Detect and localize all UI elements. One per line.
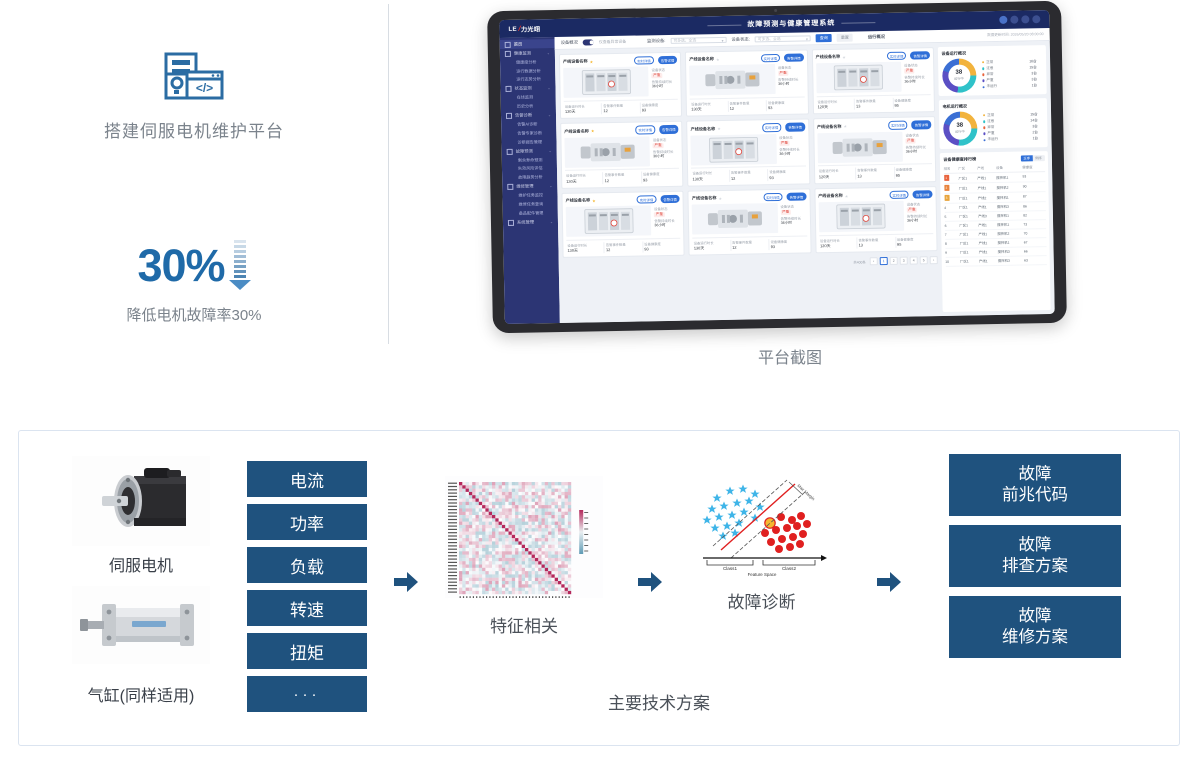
status-badge: 严重 xyxy=(652,73,662,78)
metric-alarm-count: 告警事件数量12 xyxy=(730,169,769,181)
alarm-duration-value: 36小时 xyxy=(779,151,805,156)
chevron-down-icon: ⌄ xyxy=(550,220,553,224)
pagination-prev[interactable]: ‹ xyxy=(870,258,878,266)
realtime-detail-button[interactable]: 实时详情 xyxy=(634,56,654,65)
pagination-page-5[interactable]: 5 xyxy=(920,257,928,265)
alarm-detail-button[interactable]: 告警详情 xyxy=(658,56,678,65)
legend-label: 正常 xyxy=(986,60,993,65)
metric-health: 设备健康度93 xyxy=(643,240,681,252)
rank-cell: 67 xyxy=(1024,237,1046,246)
device-thumbnail xyxy=(564,136,650,168)
tablet-screen: LE / 力光翊 故障预测与健康管理系统 xyxy=(499,10,1054,324)
sidebar-label: 系统管理 xyxy=(517,219,534,225)
signal-column: 电流功率负载转速扭矩··· xyxy=(247,461,367,719)
status-label: 设备状态 xyxy=(779,134,805,139)
legend-item: 正常 16台 xyxy=(982,59,1043,65)
svg-text:Class2: Class2 xyxy=(781,566,795,571)
status-badge: 严重 xyxy=(653,143,663,148)
legend-count: 16台 xyxy=(1029,59,1042,64)
device-card-grid: 产线设备名称 ★ 实时详情 告警详情 设备状态 严重 告警持续时长 36小时 设… xyxy=(555,43,943,323)
stat-value: 30% xyxy=(137,243,224,288)
status-label: 设备状态 xyxy=(654,206,680,211)
flow-diagram: 伺服电机 xyxy=(19,431,1179,745)
rank-cell: 厂区1 xyxy=(959,203,978,212)
rank-cell: 产线1 xyxy=(979,247,998,256)
rank-cell: 厂区1 xyxy=(959,183,978,193)
app-logo: LE / 力光翊 xyxy=(499,23,583,34)
sidebar-label: 告警专家诊断 xyxy=(517,130,542,135)
alarm-duration-value: 36小时 xyxy=(781,221,807,226)
signal-box-5: ··· xyxy=(247,676,367,712)
device-card[interactable]: 产线设备名称 ★ 实时详情 告警详情 设备状态 严重 告警持续时长 36小时 设… xyxy=(812,47,936,115)
status-label: 设备状态 xyxy=(778,65,804,70)
app-body: 首页健康监测⌄健康度分析运行数据分析运行态势分析状态监测⌄在线监测历史分析告警诊… xyxy=(500,28,1055,324)
donut-center-label: 运行中 xyxy=(955,129,965,134)
chevron-down-icon: ⌄ xyxy=(549,149,552,153)
pagination-next[interactable]: › xyxy=(930,257,938,265)
rank-cell: 搅拌机2 xyxy=(996,182,1022,192)
signal-box-1: 功率 xyxy=(247,504,367,540)
rank-cell: 产线3 xyxy=(978,211,997,220)
svm-classification-plot: Max MarginClass1Class2Feature Space xyxy=(697,476,827,574)
status-badge: 严重 xyxy=(778,71,788,76)
legend-color-dot xyxy=(983,133,986,136)
metric-runtime: 设备运行时长130天 xyxy=(565,172,604,184)
ranking-title: 设备健康度排行榜 xyxy=(943,156,976,163)
donut-chart: 38 运行中 xyxy=(943,111,978,146)
device-card-name: 产线设备名称 xyxy=(817,123,842,129)
metric-health: 设备健康度95 xyxy=(895,166,933,178)
metric-alarm-count: 告警事件数量12 xyxy=(731,239,770,251)
monitor-icon xyxy=(505,86,511,92)
legend-count: 1台 xyxy=(1033,136,1045,141)
health-ranking-panel: 设备健康度排行榜 正序 倒序 排名厂区产线设备健康度1厂区1产线1搅拌机1932… xyxy=(940,151,1051,312)
legend-color-dot xyxy=(982,67,985,70)
chevron-down-icon: ⌄ xyxy=(548,113,551,117)
svg-text:Feature Space: Feature Space xyxy=(747,572,776,577)
realtime-detail-button[interactable]: 实时详情 xyxy=(762,123,782,132)
favorite-star-icon[interactable]: ★ xyxy=(845,193,849,198)
legend-count: 15台 xyxy=(1029,65,1042,70)
alarm-detail-button[interactable]: 告警详情 xyxy=(910,51,930,60)
overview-donut-panel: 电机运行概况 38 运行中 正常 15台 注意 14台 异常 3台 严重 2台 … xyxy=(939,98,1048,149)
device-card[interactable]: 产线设备名称 ★ 实时详情 告警详情 设备状态 严重 告警持续时长 36小时 设… xyxy=(685,49,809,117)
rank-cell: 厂区1 xyxy=(959,193,978,203)
sidebar-label: 健康度分析 xyxy=(516,59,537,64)
sidebar-label: 剩余寿命预测 xyxy=(518,157,543,162)
sidebar-label: 健康监测 xyxy=(514,50,531,56)
source-caption-0: 伺服电机 xyxy=(66,552,216,576)
pagination-total: 共400条 xyxy=(853,259,866,264)
rank-cell: 产线1 xyxy=(978,229,997,238)
legend-label: 严重 xyxy=(987,78,994,83)
server-code-icon: </> xyxy=(163,52,225,105)
technical-solution-panel: 伺服电机 xyxy=(18,430,1180,746)
rank-cell: 90 xyxy=(1023,181,1045,191)
toggle-hint: 仅查看异常设备 xyxy=(599,39,626,45)
app-title-text: 故障预测与健康管理系统 xyxy=(747,18,835,30)
sidebar-label: 运行态势分析 xyxy=(516,77,541,82)
rank-cell: 产线1 xyxy=(978,202,997,211)
flow-arrow-1 xyxy=(393,569,419,595)
sidebar-label: 备品配件管理 xyxy=(519,210,544,215)
metric-health: 设备健康度93 xyxy=(770,238,808,250)
favorite-star-icon[interactable]: ★ xyxy=(843,124,847,129)
metric-runtime: 设备运行时长120天 xyxy=(818,168,857,180)
metric-runtime: 设备运行时长130天 xyxy=(566,242,605,254)
metric-health: 设备健康度95 xyxy=(896,236,934,248)
filter-status-label: 设备状态: xyxy=(731,36,749,42)
device-thumbnail xyxy=(692,203,778,235)
output-line2: 前兆代码 xyxy=(1002,485,1068,506)
bell-icon[interactable] xyxy=(1021,15,1029,23)
legend-item: 未运行 1台 xyxy=(982,83,1043,89)
legend-count: 3台 xyxy=(1031,71,1043,76)
reset-button[interactable]: 重置 xyxy=(837,33,853,42)
metric-health: 设备健康度93 xyxy=(768,169,806,181)
realtime-detail-button[interactable]: 实时详情 xyxy=(763,193,783,202)
header-icon-group xyxy=(999,15,1049,24)
alarm-detail-button[interactable]: 告警详情 xyxy=(913,190,933,199)
favorite-star-icon[interactable]: ★ xyxy=(718,196,722,201)
filter-device-value: 可多选、全选 xyxy=(673,38,696,43)
update-time: 数据更新时间: 2026/05/20 08:00:00 xyxy=(987,32,1044,38)
alarm-duration-value: 36小时 xyxy=(778,82,804,87)
device-card-name: 产线设备名称 xyxy=(691,126,716,132)
app-sidebar: 首页健康监测⌄健康度分析运行数据分析运行态势分析状态监测⌄在线监测历史分析告警诊… xyxy=(500,37,560,324)
filter-status-value: 可多选、全选 xyxy=(758,36,781,41)
home-icon xyxy=(505,41,511,47)
legend-color-dot xyxy=(982,80,985,83)
chevron-down-icon: ⌄ xyxy=(547,86,550,90)
status-badge: 严重 xyxy=(904,69,914,74)
output-line2: 排查方案 xyxy=(1002,556,1068,577)
status-badge: 严重 xyxy=(907,208,917,213)
flow-arrow-3 xyxy=(876,569,902,595)
filter-device-select[interactable]: 可多选、全选 ▾ xyxy=(670,37,726,45)
filter-status-select[interactable]: 可多选、全选 ▾ xyxy=(755,35,811,43)
device-card-name: 产线设备名称 xyxy=(692,195,717,201)
favorite-star-icon[interactable]: ★ xyxy=(716,57,720,62)
rank-cell: 87 xyxy=(1023,191,1045,201)
legend-item: 注意 15台 xyxy=(982,65,1043,71)
device-card[interactable]: 产线设备名称 ★ 实时详情 告警详情 设备状态 严重 告警持续时长 36小时 设… xyxy=(813,117,937,185)
panel-title: 设备运行概况 xyxy=(941,49,1042,57)
legend-color-dot xyxy=(982,61,985,64)
rank-cell: 厂区1 xyxy=(959,230,978,239)
servo-motor-photo xyxy=(72,456,210,546)
sidebar-label: 告警AI诊断 xyxy=(517,121,537,126)
legend-label: 严重 xyxy=(987,131,994,136)
metric-alarm-count: 告警事件数量13 xyxy=(856,167,895,179)
logo-text2: 力光翊 xyxy=(521,24,541,33)
status-label: 设备状态 xyxy=(780,204,806,209)
pagination-page-2[interactable]: 2 xyxy=(890,257,898,265)
favorite-star-icon[interactable]: ★ xyxy=(717,126,721,131)
source-column: 伺服电机 xyxy=(66,456,216,706)
alarm-detail-button[interactable]: 告警详情 xyxy=(659,125,679,134)
tablet-caption: 平台截图 xyxy=(470,344,1110,368)
pagination-page-3[interactable]: 3 xyxy=(900,257,908,265)
output-line1: 故障 xyxy=(1019,464,1052,485)
device-card-name: 产线设备名称 xyxy=(563,59,588,65)
rank-cell: 产线1 xyxy=(977,172,996,182)
page-root: </> 搭建伺服电机维护平台 30% xyxy=(0,0,1198,764)
legend-count: 3台 xyxy=(1032,124,1044,129)
device-thumbnail xyxy=(817,131,903,163)
metric-alarm-count: 告警事件数量13 xyxy=(855,98,894,110)
stat-caption: 降低电机故障率30% xyxy=(0,304,388,325)
sidebar-label: 维修任务查询 xyxy=(519,201,544,206)
metric-runtime: 设备运行时长120天 xyxy=(819,237,858,249)
device-card[interactable]: 产线设备名称 ★ 实时详情 告警详情 设备状态 严重 告警持续时长 36小时 设… xyxy=(560,121,684,189)
device-card[interactable]: 产线设备名称 ★ 实时详情 告警详情 设备状态 严重 告警持续时长 36小时 设… xyxy=(814,186,938,254)
filter-device-label: 监测设备: xyxy=(647,38,665,44)
alarm-detail-button[interactable]: 告警详情 xyxy=(785,123,805,132)
rank-cell: 厂区1 xyxy=(960,257,979,266)
stat-block: 30% 降低电机故障率30% xyxy=(0,238,388,325)
show-abnormal-toggle[interactable] xyxy=(583,40,594,46)
rank-medal-icon: 1 xyxy=(944,175,949,181)
sidebar-label: 失效风险评估 xyxy=(518,166,543,171)
metric-health: 设备健康度93 xyxy=(642,171,680,183)
device-card[interactable]: 产线设备名称 ★ 实时详情 告警详情 设备状态 严重 告警持续时长 36小时 设… xyxy=(686,119,810,187)
output-line1: 故障 xyxy=(1019,606,1052,627)
rank-cell: 10 xyxy=(945,257,960,266)
rank-cell: 产线1 xyxy=(978,220,997,229)
sort-desc-button[interactable]: 倒序 xyxy=(1033,155,1045,162)
rank-cell: 1 xyxy=(944,173,959,183)
rank-medal-icon: 3 xyxy=(944,195,949,201)
rank-cell: 搅拌机1 xyxy=(997,192,1023,202)
correlation-heatmap xyxy=(445,476,603,598)
search-button[interactable]: 查询 xyxy=(816,34,832,43)
table-row[interactable]: 10厂区1产线1搅拌机363 xyxy=(945,255,1046,266)
run-overview-title: 运行概况 xyxy=(868,34,885,40)
device-thumbnail xyxy=(689,64,775,96)
rank-cell: 9 xyxy=(945,248,960,257)
rank-cell: 93 xyxy=(1022,171,1044,181)
device-thumbnail xyxy=(563,67,649,99)
pagination-page-4[interactable]: 4 xyxy=(910,257,918,265)
rank-cell: 63 xyxy=(1024,255,1046,264)
platform-icon-block: </> 搭建伺服电机维护平台 xyxy=(0,52,388,142)
rank-cell: 73 xyxy=(1023,219,1045,228)
device-thumbnail xyxy=(816,62,902,94)
favorite-star-icon[interactable]: ★ xyxy=(592,198,596,203)
metric-alarm-count: 告警事件数量12 xyxy=(729,100,768,112)
panel-title: 电机运行概况 xyxy=(942,102,1043,110)
source-caption-1: 气缸(同样适用) xyxy=(66,682,216,706)
title-rule-right xyxy=(841,22,875,24)
rank-cell: 厂区1 xyxy=(959,212,978,221)
platform-icon-caption: 搭建伺服电机维护平台 xyxy=(0,117,388,142)
legend-label: 未运行 xyxy=(988,137,999,142)
favorite-star-icon[interactable]: ★ xyxy=(591,128,595,133)
device-card[interactable]: 产线设备名称 ★ 实时详情 告警详情 设备状态 严重 告警持续时长 36小时 设… xyxy=(559,52,683,120)
rank-cell: 厂区1 xyxy=(960,248,979,257)
alarm-detail-button[interactable]: 告警详情 xyxy=(784,53,804,62)
rank-cell: 搅拌机1 xyxy=(996,172,1022,182)
predict-icon xyxy=(507,148,513,154)
alarm-duration-value: 36小时 xyxy=(904,79,930,84)
alarm-duration-value: 36小时 xyxy=(654,223,680,228)
realtime-detail-button[interactable]: 实时详情 xyxy=(888,121,908,130)
rank-cell: 8 xyxy=(945,239,960,248)
legend-count: 14台 xyxy=(1030,118,1043,123)
output-line1: 故障 xyxy=(1019,535,1052,556)
sidebar-item-20[interactable]: 系统管理⌄ xyxy=(503,217,558,227)
chevron-down-icon: ⌄ xyxy=(547,51,550,55)
status-badge: 严重 xyxy=(780,210,790,215)
step-caption-0: 特征相关 xyxy=(434,612,614,637)
favorite-star-icon[interactable]: ★ xyxy=(842,54,846,59)
home-icon[interactable] xyxy=(1010,16,1018,24)
donut-chart: 38 运行中 xyxy=(942,58,977,93)
metric-alarm-count: 告警事件数量13 xyxy=(857,236,896,248)
donut-center-label: 运行中 xyxy=(954,76,964,81)
legend-color-dot xyxy=(983,126,986,129)
svg-text:Class1: Class1 xyxy=(722,566,736,571)
title-rule-left xyxy=(707,24,741,26)
sidebar-label: 首页 xyxy=(514,41,523,47)
realtime-detail-button[interactable]: 实时详情 xyxy=(889,191,909,200)
signal-box-2: 负载 xyxy=(247,547,367,583)
chevron-down-icon: ▾ xyxy=(806,36,808,41)
rank-cell: 厂区1 xyxy=(958,173,977,183)
rank-cell: 厂区1 xyxy=(960,239,979,248)
sidebar-label: 故障预测 xyxy=(516,148,533,154)
sidebar-label: 故障趋势分析 xyxy=(518,174,543,179)
output-column: 故障前兆代码故障排查方案故障维修方案 xyxy=(949,454,1121,667)
alarm-duration-value: 36小时 xyxy=(653,153,679,158)
legend-label: 未运行 xyxy=(987,84,998,89)
main-solution-caption: 主要技术方案 xyxy=(509,689,809,714)
pagination: 共400条 ‹12345› xyxy=(563,256,938,272)
flow-arrow-2 xyxy=(637,569,663,595)
heart-icon xyxy=(505,51,511,57)
device-thumbnail xyxy=(566,205,652,237)
legend-color-dot xyxy=(982,86,985,89)
device-card[interactable]: 产线设备名称 ★ 实时详情 告警详情 设备状态 严重 告警持续时长 36小时 设… xyxy=(688,188,812,256)
sidebar-label: 运行数据分析 xyxy=(516,68,541,73)
device-card[interactable]: 产线设备名称 ★ 实时详情 告警详情 设备状态 严重 告警持续时长 36小时 设… xyxy=(561,191,685,259)
legend-label: 异常 xyxy=(987,125,994,130)
device-card-name: 产线设备名称 xyxy=(689,56,714,62)
rank-cell: 产线1 xyxy=(977,182,996,192)
gear-icon xyxy=(508,219,514,225)
alarm-detail-button[interactable]: 告警详情 xyxy=(787,192,807,201)
rank-cell: 产线1 xyxy=(979,238,998,247)
legend-color-dot xyxy=(983,120,986,123)
main-panes: 产线设备名称 ★ 实时详情 告警详情 设备状态 严重 告警持续时长 36小时 设… xyxy=(555,41,1055,323)
rank-medal-icon: 2 xyxy=(944,185,949,191)
donut-center-value: 38 xyxy=(956,122,963,128)
favorite-star-icon[interactable]: ★ xyxy=(590,59,594,64)
svg-text:</>: </> xyxy=(196,81,213,95)
status-label: 设备状态 xyxy=(905,132,931,137)
gear-icon[interactable] xyxy=(1032,15,1040,23)
output-box-0: 故障前兆代码 xyxy=(949,454,1121,516)
signal-box-0: 电流 xyxy=(247,461,367,497)
wrench-icon xyxy=(507,184,513,190)
rank-cell: 3 xyxy=(944,193,959,203)
rank-cell: 搅拌机3 xyxy=(997,202,1023,211)
legend-color-dot xyxy=(982,73,985,76)
legend-label: 注意 xyxy=(986,66,993,71)
sort-asc-button[interactable]: 正序 xyxy=(1021,155,1033,162)
health-ranking-table: 排名厂区产线设备健康度1厂区1产线1搅拌机1932厂区1产线1搅拌机2903厂区… xyxy=(943,163,1046,267)
sidebar-label: 告警诊断 xyxy=(515,113,532,119)
rank-cell: 搅拌机3 xyxy=(998,256,1024,265)
alarm-duration-value: 36小时 xyxy=(907,218,933,223)
app-title: 故障预测与健康管理系统 xyxy=(583,15,999,33)
rank-cell: 70 xyxy=(1023,228,1045,237)
rank-cell: 5 xyxy=(944,212,959,221)
realtime-detail-button[interactable]: 实时详情 xyxy=(887,52,907,61)
rank-cell: 86 xyxy=(1023,201,1045,210)
rank-cell: 搅拌机1 xyxy=(997,220,1023,229)
chevron-down-icon: ▾ xyxy=(722,37,724,42)
fault-diagnosis-step: Max MarginClass1Class2Feature Space 故障诊断 xyxy=(674,476,849,613)
rank-cell: 66 xyxy=(1024,246,1046,255)
rank-cell: 7 xyxy=(945,230,960,239)
alarm-detail-button[interactable]: 告警详情 xyxy=(660,195,680,204)
legend-item: 正常 15台 xyxy=(983,112,1044,118)
realtime-detail-button[interactable]: 实时详情 xyxy=(637,195,657,204)
device-card-name: 产线设备名称 xyxy=(818,193,843,199)
legend-count: 15台 xyxy=(1030,112,1043,117)
output-box-1: 故障排查方案 xyxy=(949,525,1121,587)
legend-label: 正常 xyxy=(987,113,994,118)
sidebar-label: 诊断报告管理 xyxy=(517,139,542,144)
right-summary-pane: 设备运行概况 38 运行中 正常 16台 注意 15台 异常 3台 严重 3台 … xyxy=(938,41,1055,316)
metric-health: 设备健康度93 xyxy=(641,101,679,113)
sidebar-label: 维护任务监控 xyxy=(518,192,543,197)
alarm-detail-button[interactable]: 告警详情 xyxy=(912,121,932,130)
metric-runtime: 设备运行时长130天 xyxy=(690,101,729,113)
pagination-page-1[interactable]: 1 xyxy=(880,257,888,265)
metric-health: 设备健康度93 xyxy=(767,99,805,111)
rank-cell: 产线2 xyxy=(978,192,997,202)
status-badge: 严重 xyxy=(654,212,664,217)
rank-cell: 2 xyxy=(944,183,959,193)
realtime-detail-button[interactable]: 实时详情 xyxy=(635,126,655,135)
donut-legend: 正常 16台 注意 15台 异常 3台 严重 3台 未运行 1台 xyxy=(982,58,1044,91)
legend-count: 2台 xyxy=(1032,130,1044,135)
overview-label: 设备概况 xyxy=(561,40,578,46)
metric-runtime: 设备运行时长130天 xyxy=(691,170,730,182)
rank-cell: 4 xyxy=(944,203,959,212)
pdm-application: LE / 力光翊 故障预测与健康管理系统 xyxy=(499,10,1054,324)
left-highlight-panel: </> 搭建伺服电机维护平台 30% xyxy=(0,0,388,370)
realtime-detail-button[interactable]: 实时详情 xyxy=(760,54,780,63)
legend-label: 异常 xyxy=(986,72,993,77)
app-content: 设备概况 仅查看异常设备 监测设备: 可多选、全选 ▾ 设备状态: xyxy=(555,28,1055,323)
legend-count: 1台 xyxy=(1032,83,1044,88)
rank-cell: 厂区1 xyxy=(959,221,978,230)
metric-runtime: 设备运行时长130天 xyxy=(693,240,732,252)
device-card-name: 产线设备名称 xyxy=(816,54,841,60)
rank-col-header: 排名 xyxy=(943,165,958,174)
user-icon[interactable] xyxy=(999,16,1007,24)
alert-icon xyxy=(506,113,512,119)
metric-health: 设备健康度95 xyxy=(893,97,931,109)
metric-runtime: 设备运行时长120天 xyxy=(816,98,855,110)
sidebar-label: 状态监测 xyxy=(514,86,531,92)
status-label: 设备状态 xyxy=(907,201,933,206)
status-label: 设备状态 xyxy=(653,136,679,141)
